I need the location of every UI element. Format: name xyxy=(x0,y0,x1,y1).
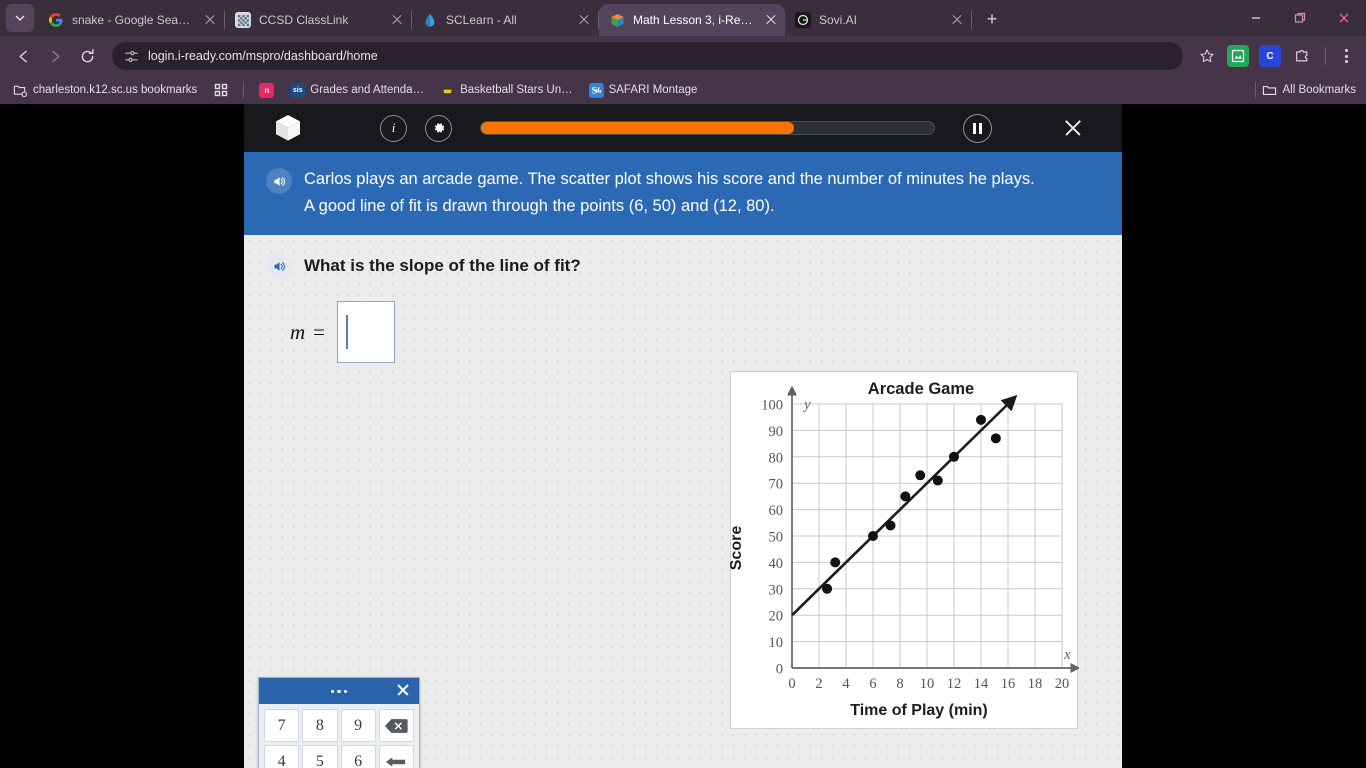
reload-button[interactable] xyxy=(72,41,102,71)
prompt-line-2: A good line of fit is drawn through the … xyxy=(304,197,775,215)
arrow-right-icon xyxy=(47,48,64,65)
arrow-left-icon xyxy=(15,48,32,65)
maximize-button[interactable] xyxy=(1278,3,1322,33)
svg-text:40: 40 xyxy=(769,556,784,572)
keypad-titlebar[interactable] xyxy=(259,678,419,704)
svg-text:10: 10 xyxy=(769,636,784,652)
tab-title: SCLearn - All xyxy=(446,13,568,27)
graduation-cap-icon xyxy=(440,83,455,98)
bookmark-charleston-folder[interactable]: charleston.k12.sc.us bookmarks xyxy=(8,81,202,100)
svg-text:0: 0 xyxy=(788,676,795,692)
svg-text:90: 90 xyxy=(769,424,784,440)
lesson-toolbar: i xyxy=(244,104,1122,152)
bookmarks-bar: charleston.k12.sc.us bookmarks n sis Gra… xyxy=(0,76,1366,104)
svg-text:100: 100 xyxy=(761,398,783,414)
key-6[interactable]: 6 xyxy=(341,745,376,768)
classlink-icon xyxy=(235,12,251,28)
svg-text:60: 60 xyxy=(769,504,784,520)
bookmark-safari-montage[interactable]: S SAFARI Montage xyxy=(584,81,703,100)
safari-montage-icon: S xyxy=(589,83,604,98)
tab-title: Math Lesson 3, i-Ready xyxy=(633,13,755,27)
arrow-left-icon xyxy=(385,755,407,768)
tab-search-button[interactable] xyxy=(6,4,34,32)
bookmark-nearpod[interactable]: n xyxy=(254,81,279,100)
key-4[interactable]: 4 xyxy=(264,745,299,768)
equals-sign: = xyxy=(313,320,325,345)
iready-cube-logo xyxy=(272,112,304,144)
toolbar-divider xyxy=(1325,47,1326,65)
bookmark-label: Basketball Stars Un… xyxy=(460,84,573,96)
puzzle-icon xyxy=(1294,48,1310,64)
slope-variable-label: m xyxy=(290,320,305,345)
key-5[interactable]: 5 xyxy=(302,745,337,768)
backspace-icon xyxy=(384,718,408,734)
all-bookmarks-button[interactable]: All Bookmarks xyxy=(1255,82,1357,98)
key-7[interactable]: 7 xyxy=(264,709,299,742)
scatter-plot-card: Arcade Game Score Time of Play (min) xyxy=(730,371,1078,729)
svg-text:y: y xyxy=(802,397,811,413)
svg-text:14: 14 xyxy=(974,676,989,692)
question-row: What is the slope of the line of fit? xyxy=(244,235,1122,279)
svg-text:0: 0 xyxy=(776,662,783,678)
bookmark-basketball-stars[interactable]: Basketball Stars Un… xyxy=(435,81,578,100)
svg-text:2: 2 xyxy=(815,676,822,692)
chart-axes xyxy=(792,394,1072,668)
svg-text:8: 8 xyxy=(896,676,903,692)
info-label: i xyxy=(392,120,396,136)
site-settings-icon[interactable] xyxy=(124,49,139,64)
lesson-body: What is the slope of the line of fit? m … xyxy=(244,235,1122,763)
key-backspace[interactable] xyxy=(379,709,414,742)
tab-close-button[interactable] xyxy=(202,12,218,28)
page-viewport: i xyxy=(0,104,1366,768)
reload-icon xyxy=(79,48,96,65)
svg-text:6: 6 xyxy=(869,676,876,692)
tab-divider xyxy=(971,11,972,29)
extension-screenshot-icon[interactable] xyxy=(1227,45,1249,67)
tab-math-lesson-3-iready[interactable]: Math Lesson 3, i-Ready xyxy=(599,4,785,36)
back-button[interactable] xyxy=(8,41,38,71)
math-keypad: 7 8 9 4 5 6 xyxy=(258,677,420,768)
svg-text:80: 80 xyxy=(769,451,784,467)
keypad-drag-handle[interactable] xyxy=(331,690,347,693)
folder-settings-icon xyxy=(13,83,28,98)
svg-text:70: 70 xyxy=(769,477,784,493)
chart-gridlines xyxy=(792,404,1062,668)
chart-data-points xyxy=(822,415,1001,594)
speaker-icon xyxy=(272,174,287,189)
tab-title: snake - Google Search xyxy=(72,13,194,27)
bookmark-divider xyxy=(1255,82,1256,98)
info-button[interactable]: i xyxy=(380,115,407,142)
tab-close-button[interactable] xyxy=(949,12,965,28)
svg-text:10: 10 xyxy=(920,676,935,692)
bookmark-label: charleston.k12.sc.us bookmarks xyxy=(33,84,197,96)
folder-icon xyxy=(1262,83,1277,98)
minimize-icon xyxy=(1250,12,1262,24)
forward-button[interactable] xyxy=(40,41,70,71)
svg-text:S: S xyxy=(592,86,597,97)
svg-text:4: 4 xyxy=(842,676,850,692)
browser-menu-button[interactable] xyxy=(1334,43,1358,69)
scatter-plot-svg: 010203040506070809010002468101214161820 … xyxy=(731,372,1079,730)
tab-close-button[interactable] xyxy=(763,12,779,28)
keypad-keys: 7 8 9 4 5 6 xyxy=(259,704,419,768)
answer-row: m = xyxy=(244,279,1122,363)
svg-text:20: 20 xyxy=(1055,676,1070,692)
iready-cube-icon xyxy=(609,12,625,28)
bookmark-apps-grid[interactable] xyxy=(208,81,233,100)
nearpod-icon: n xyxy=(259,83,274,98)
slope-answer-input[interactable] xyxy=(337,301,395,363)
prompt-banner: Carlos plays an arcade game. The scatter… xyxy=(244,152,1122,235)
lesson-close-button[interactable] xyxy=(1060,115,1086,141)
svg-text:50: 50 xyxy=(769,530,784,546)
tab-title: Sovi.AI xyxy=(819,13,941,27)
browser-toolbar: login.i-ready.com/mspro/dashboard/home C xyxy=(0,36,1366,76)
settings-button[interactable] xyxy=(425,115,452,142)
tab-sclearn-all[interactable]: SCLearn - All xyxy=(412,4,598,36)
speaker-icon xyxy=(272,259,287,274)
svg-text:16: 16 xyxy=(1001,676,1016,692)
new-tab-button[interactable]: + xyxy=(978,5,1006,33)
svg-text:30: 30 xyxy=(769,583,784,599)
window-close-button[interactable] xyxy=(1322,3,1366,33)
sis-icon: sis xyxy=(290,83,305,98)
tab-sovi-ai[interactable]: Sovi.AI xyxy=(785,4,971,36)
apps-grid-icon xyxy=(213,83,228,98)
key-arrow-left[interactable] xyxy=(379,745,414,768)
star-icon xyxy=(1199,48,1215,64)
tab-close-button[interactable] xyxy=(576,12,592,28)
browser-window: snake - Google Search CCSD ClassLink SCL… xyxy=(0,0,1366,768)
bookmark-grades-and-attendance[interactable]: sis Grades and Attenda… xyxy=(285,81,429,100)
bookmark-label: Grades and Attenda… xyxy=(310,84,424,96)
sovi-icon xyxy=(795,12,811,28)
all-bookmarks-label: All Bookmarks xyxy=(1283,84,1357,96)
tab-ccsd-classlink[interactable]: CCSD ClassLink xyxy=(225,4,411,36)
svg-text:x: x xyxy=(1063,647,1071,663)
progress-track xyxy=(480,121,935,135)
gear-icon xyxy=(432,121,446,135)
bookmark-label: SAFARI Montage xyxy=(609,84,698,96)
svg-text:12: 12 xyxy=(947,676,962,692)
minimize-button[interactable] xyxy=(1234,3,1278,33)
iready-lesson-app: i xyxy=(244,104,1122,768)
google-icon xyxy=(48,12,64,28)
extension-clever-icon[interactable]: C xyxy=(1259,45,1281,67)
key-8[interactable]: 8 xyxy=(302,709,337,742)
tab-snake-google-search[interactable]: snake - Google Search xyxy=(38,4,224,36)
key-9[interactable]: 9 xyxy=(341,709,376,742)
chevron-down-icon xyxy=(15,13,25,23)
tab-close-button[interactable] xyxy=(389,12,405,28)
maximize-icon xyxy=(1294,12,1306,24)
keypad-close-button[interactable] xyxy=(395,682,411,698)
extensions-puzzle-icon[interactable] xyxy=(1291,45,1313,67)
bookmark-star-icon[interactable] xyxy=(1193,42,1221,70)
close-icon xyxy=(1338,12,1350,24)
chart-tick-labels: 010203040506070809010002468101214161820 xyxy=(761,398,1069,693)
prompt-text: Carlos plays an arcade game. The scatter… xyxy=(304,166,1035,219)
pause-button[interactable] xyxy=(963,114,992,143)
address-bar-url: login.i-ready.com/mspro/dashboard/home xyxy=(148,49,378,63)
tab-title: CCSD ClassLink xyxy=(259,13,381,27)
sclearn-icon xyxy=(422,12,438,28)
progress-fill xyxy=(481,122,794,134)
chart-axis-symbols: yx xyxy=(802,397,1071,663)
read-aloud-prompt-button[interactable] xyxy=(266,168,292,194)
window-controls xyxy=(1234,0,1366,36)
question-text: What is the slope of the line of fit? xyxy=(304,256,581,276)
bookmark-divider xyxy=(243,82,244,98)
svg-text:18: 18 xyxy=(1028,676,1043,692)
prompt-line-1: Carlos plays an arcade game. The scatter… xyxy=(304,170,1035,188)
tab-strip: snake - Google Search CCSD ClassLink SCL… xyxy=(0,0,1366,36)
read-aloud-question-button[interactable] xyxy=(266,253,292,279)
address-bar[interactable]: login.i-ready.com/mspro/dashboard/home xyxy=(112,42,1183,70)
svg-text:20: 20 xyxy=(769,609,784,625)
lesson-progress xyxy=(480,121,935,135)
text-caret xyxy=(346,315,348,349)
